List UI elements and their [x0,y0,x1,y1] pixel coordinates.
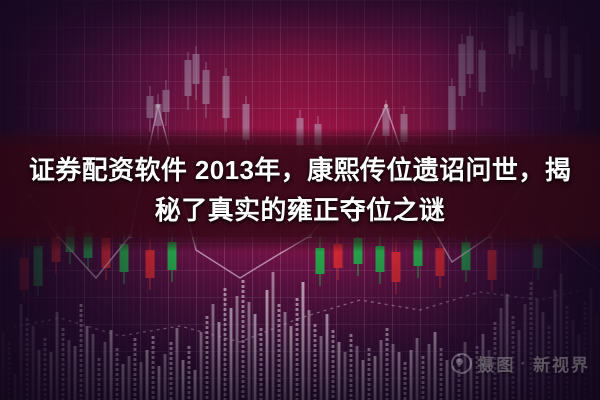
watermark-brand: 摄图 [477,351,515,376]
watermark: 摄图 · 新视界 [451,351,590,376]
stock-chart-banner: 证券配资软件 2013年，康熙传位遗诏问世，揭 秘了真实的雍正夺位之谜 摄图 ·… [0,0,600,400]
camera-logo-icon [451,353,472,374]
watermark-separator: · [520,354,528,374]
page-title: 证券配资软件 2013年，康熙传位遗诏问世，揭 秘了真实的雍正夺位之谜 [0,150,600,230]
watermark-sub: 新视界 [533,351,590,376]
headline-line-2: 秘了真实的雍正夺位之谜 [22,190,578,230]
headline-line-1: 证券配资软件 2013年，康熙传位遗诏问世，揭 [29,155,571,185]
